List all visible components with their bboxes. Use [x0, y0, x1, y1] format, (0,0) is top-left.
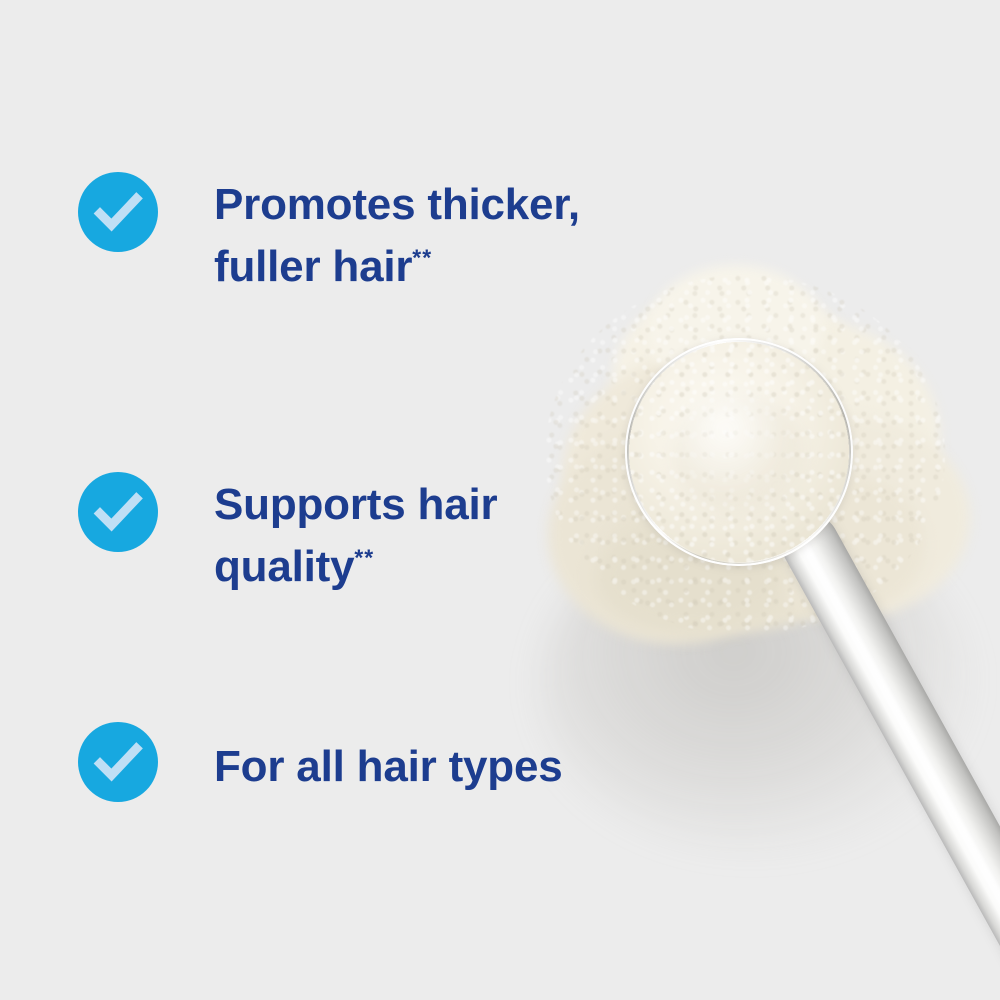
- check-circle-icon: [78, 172, 158, 252]
- benefit-label-2: Supports hair quality: [214, 480, 497, 591]
- benefit-item-2: Supports hair quality**: [78, 472, 497, 599]
- benefit-item-1: Promotes thicker, fuller hair**: [78, 172, 580, 299]
- benefit-footnote-marker-1: **: [412, 245, 432, 271]
- benefit-text-1: Promotes thicker, fuller hair**: [214, 172, 580, 299]
- product-benefits-image: TBSP Promotes thicker, fuller hair** S: [0, 0, 1000, 1000]
- benefit-text-2: Supports hair quality**: [214, 472, 497, 599]
- benefits-list: Promotes thicker, fuller hair** Supports…: [0, 0, 620, 1000]
- benefit-label-1: Promotes thicker, fuller hair: [214, 180, 580, 291]
- check-circle-icon: [78, 472, 158, 552]
- scoop-bowl: [625, 338, 853, 566]
- benefit-item-3: For all hair types: [78, 722, 563, 802]
- benefit-footnote-marker-2: **: [354, 545, 374, 571]
- benefit-label-3: For all hair types: [214, 742, 563, 791]
- scoop-rim: [625, 338, 853, 566]
- benefit-text-3: For all hair types: [214, 722, 563, 798]
- check-circle-icon: [78, 722, 158, 802]
